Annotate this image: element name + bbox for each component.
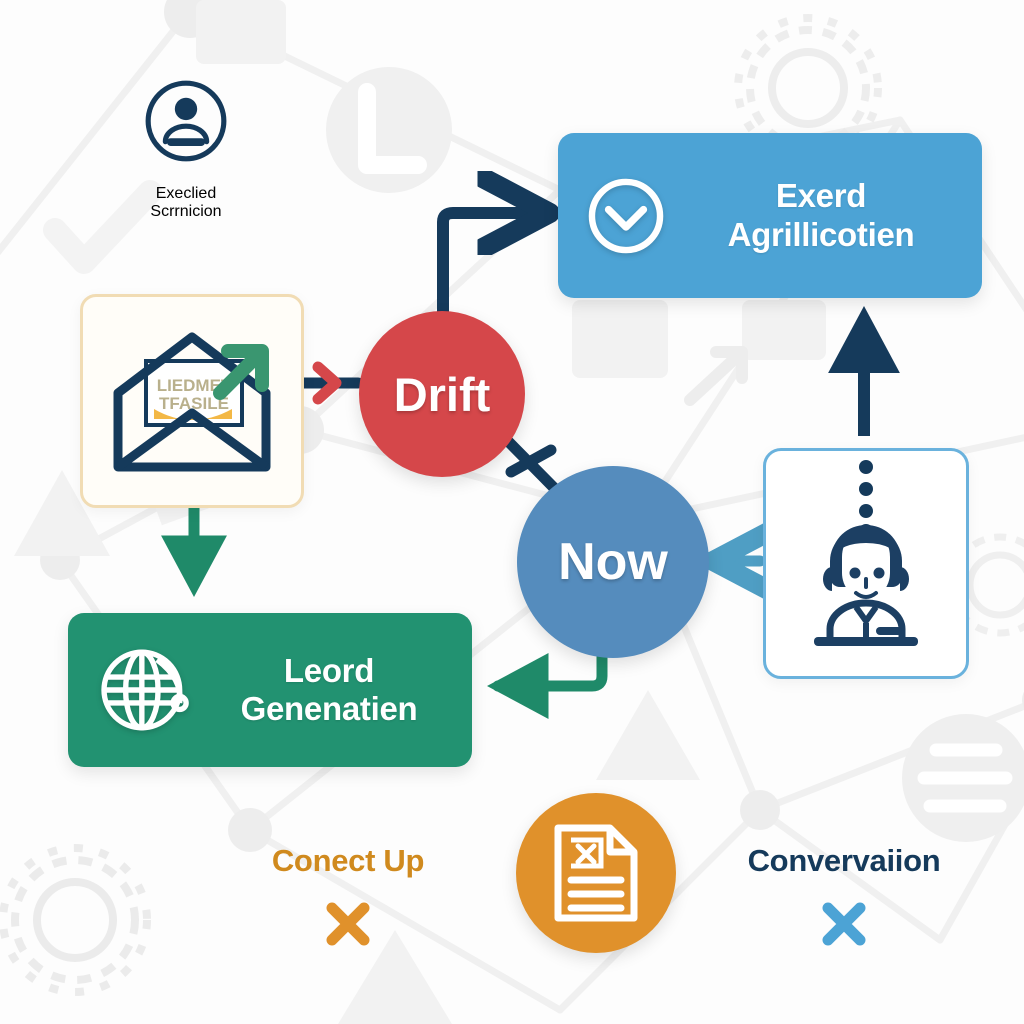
box-lead-label-line2: Genenatien bbox=[202, 690, 456, 728]
box-exerd-agrillicotien[interactable]: Exerd Agrillicotien bbox=[558, 133, 982, 298]
user-circle-icon bbox=[143, 78, 229, 164]
x-mark-icon bbox=[324, 900, 372, 948]
globe-icon bbox=[90, 636, 198, 744]
box-external-label: Exerd Agrillicotien bbox=[672, 177, 982, 254]
bottom-right-label: Convervaiion bbox=[694, 845, 994, 876]
support-agent-person-icon bbox=[800, 513, 932, 647]
x-mark-icon bbox=[820, 900, 868, 948]
box-leord-genenatien[interactable]: Leord Genenatien bbox=[68, 613, 472, 767]
bottom-item-conect-up[interactable]: Conect Up bbox=[198, 845, 498, 953]
box-lead-label: Leord Genenatien bbox=[198, 652, 472, 729]
bottom-left-label: Conect Up bbox=[198, 845, 498, 876]
open-envelope-with-arrow-icon: LIEDMET TFASILE bbox=[102, 321, 282, 481]
diagram-canvas: Execlied Scrrnicion LIEDMET TFASILE Exer… bbox=[0, 0, 1024, 1024]
circle-node-drift[interactable]: Drift bbox=[359, 311, 525, 477]
badge-document[interactable] bbox=[516, 793, 676, 953]
document-tools-icon bbox=[550, 822, 642, 924]
card-agent[interactable] bbox=[763, 448, 969, 679]
node-user-label-line1: Execlied bbox=[96, 185, 276, 203]
node-execlied-scrrnicion[interactable]: Execlied Scrrnicion bbox=[96, 78, 276, 221]
card-envelope[interactable]: LIEDMET TFASILE bbox=[80, 294, 304, 508]
box-external-label-line2: Agrillicotien bbox=[676, 216, 966, 254]
circle-node-now[interactable]: Now bbox=[517, 466, 709, 658]
node-user-label-line2: Scrrnicion bbox=[96, 203, 276, 221]
connector-now-to-lead bbox=[498, 656, 602, 686]
box-external-label-line1: Exerd bbox=[676, 177, 966, 215]
check-circle-chevron-icon bbox=[580, 170, 672, 262]
connector-envelope-to-drift bbox=[300, 367, 358, 399]
bottom-item-convervaiion[interactable]: Convervaiion bbox=[694, 845, 994, 953]
box-lead-label-line1: Leord bbox=[202, 652, 456, 690]
